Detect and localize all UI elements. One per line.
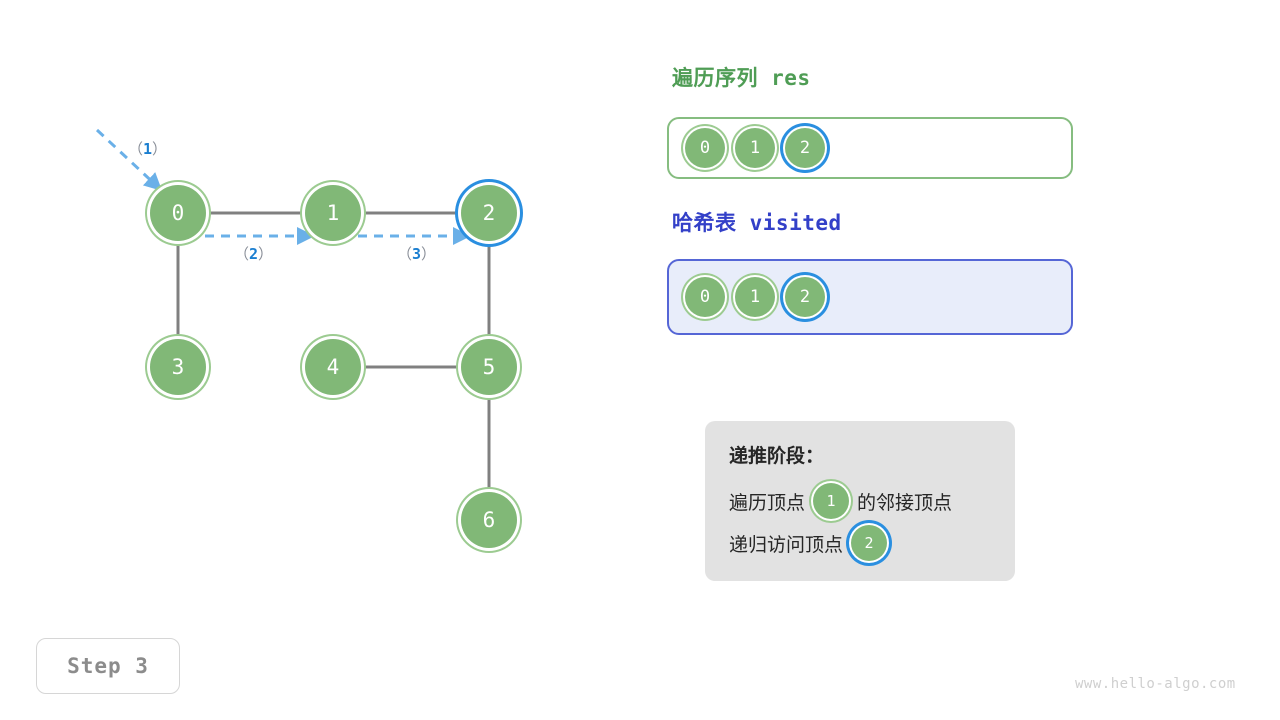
visited-hashmap-box: 012 (667, 259, 1073, 335)
res-panel-title: 遍历序列 res (672, 62, 811, 92)
explanation-line-1-suffix: 的邻接顶点 (857, 488, 952, 515)
explanation-chip-vertex-2: 2 (851, 525, 887, 561)
traversal-arrow-label-1: （1） (128, 138, 167, 159)
traversal-arrow-label-3: （3） (397, 243, 436, 264)
res-item-0: 0 (685, 128, 725, 168)
graph-node-1[interactable]: 1 (305, 185, 361, 241)
res-item-1: 1 (735, 128, 775, 168)
visited-item-2: 2 (785, 277, 825, 317)
explanation-chip-vertex-1: 1 (813, 483, 849, 519)
res-item-list: 012 (685, 128, 825, 168)
graph-node-2[interactable]: 2 (461, 185, 517, 241)
watermark: www.hello-algo.com (1075, 676, 1236, 692)
visited-panel-title: 哈希表 visited (672, 207, 842, 237)
explanation-line-1-prefix: 遍历顶点 (729, 488, 805, 515)
explanation-line-1: 遍历顶点 1 的邻接顶点 (729, 480, 991, 522)
graph-node-3[interactable]: 3 (150, 339, 206, 395)
explanation-title: 递推阶段： (729, 441, 991, 468)
visited-item-1: 1 (735, 277, 775, 317)
res-item-2: 2 (785, 128, 825, 168)
visited-item-list: 012 (685, 277, 825, 317)
graph-node-5[interactable]: 5 (461, 339, 517, 395)
step-badge: Step 3 (36, 638, 180, 694)
graph-node-4[interactable]: 4 (305, 339, 361, 395)
graph-node-0[interactable]: 0 (150, 185, 206, 241)
visited-item-0: 0 (685, 277, 725, 317)
res-sequence-box: 012 (667, 117, 1073, 179)
explanation-line-2-prefix: 递归访问顶点 (729, 530, 843, 557)
traversal-arrow-label-2: （2） (234, 243, 273, 264)
graph-node-6[interactable]: 6 (461, 492, 517, 548)
graph-panel: 0123456 （1）（2）（3） (0, 0, 640, 720)
explanation-box: 递推阶段： 遍历顶点 1 的邻接顶点 递归访问顶点 2 (705, 421, 1015, 581)
explanation-line-2: 递归访问顶点 2 (729, 522, 991, 564)
